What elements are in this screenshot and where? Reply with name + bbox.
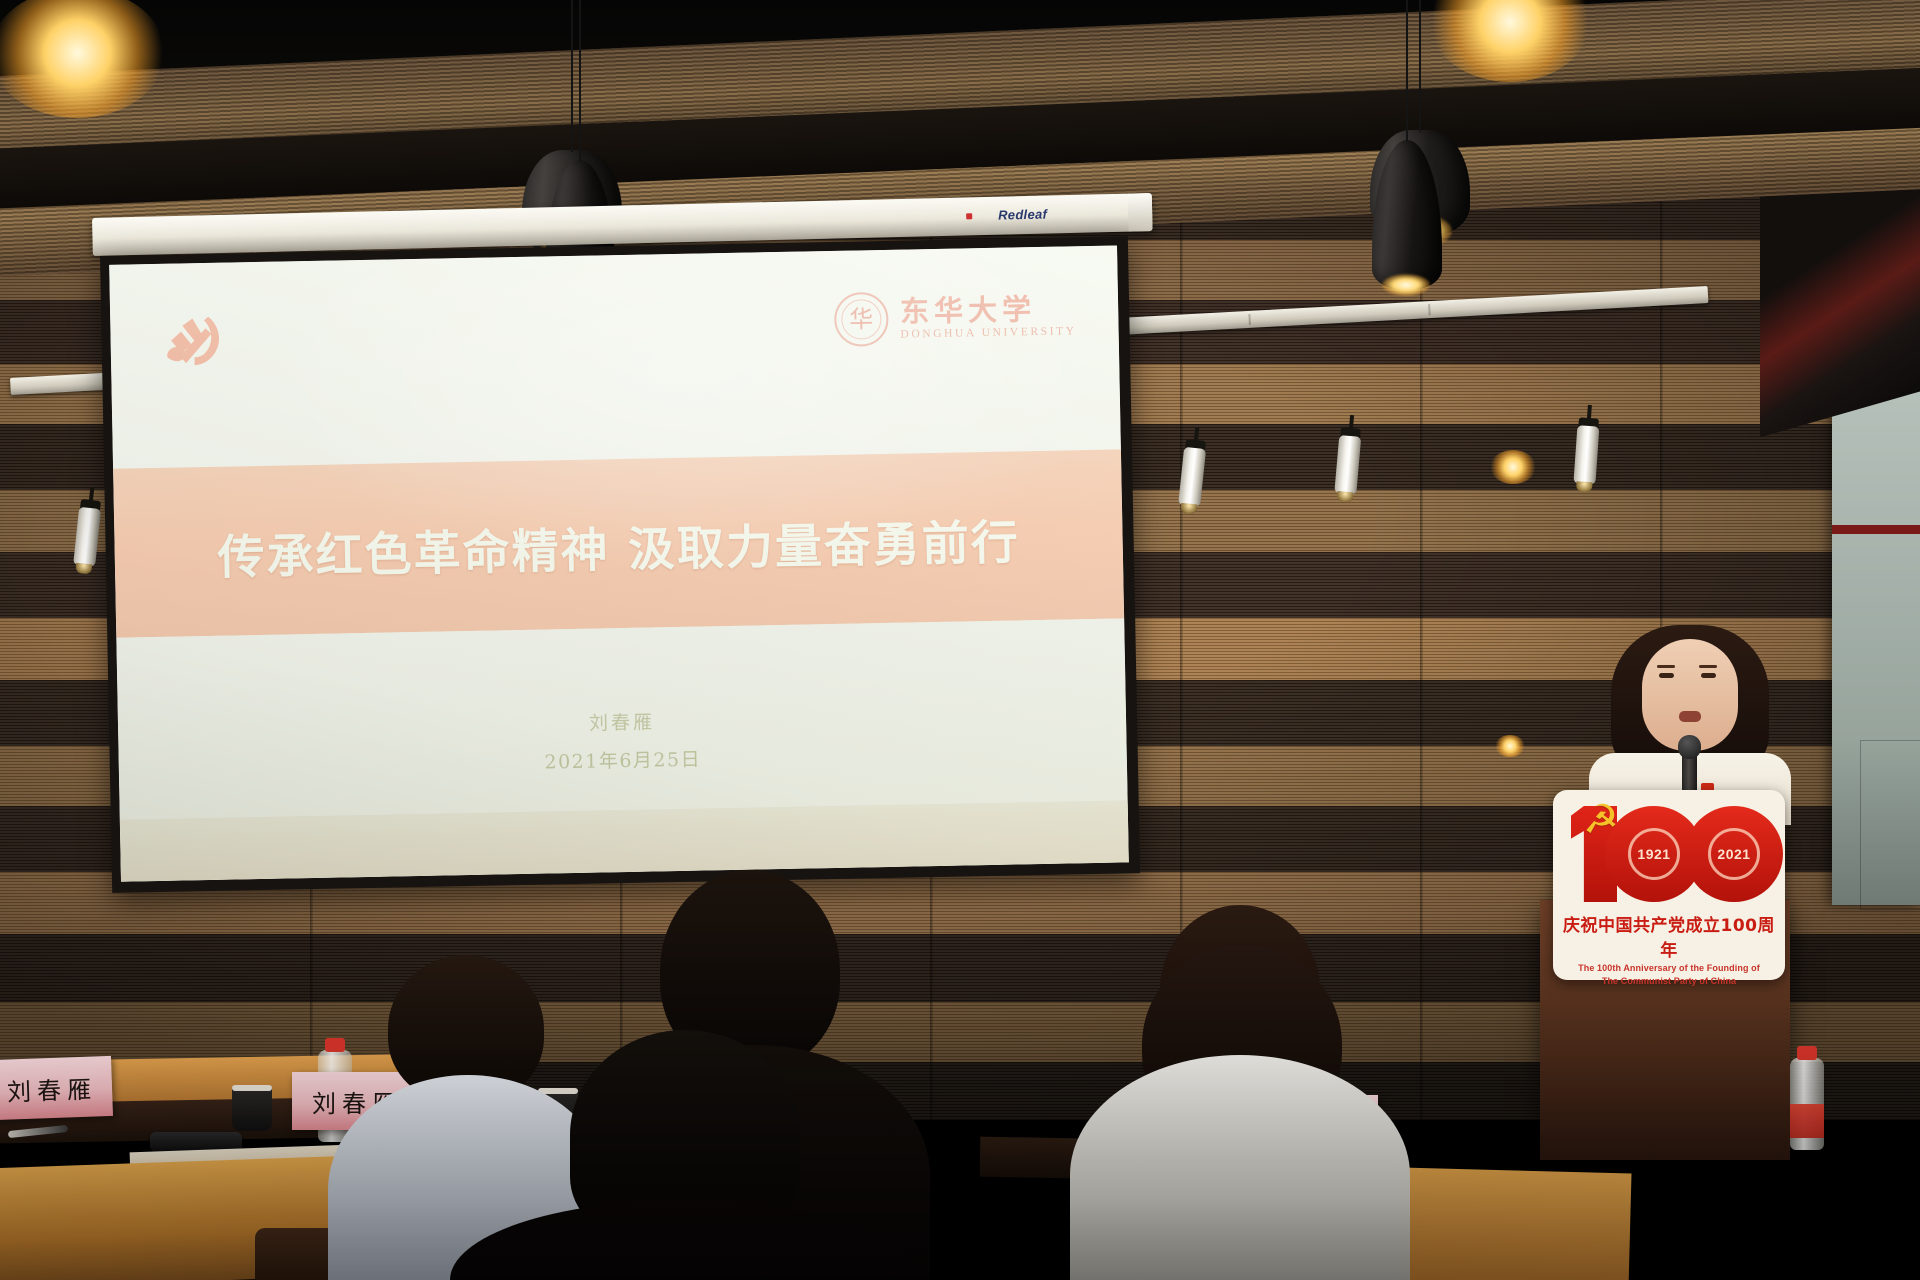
audience-member <box>510 1030 850 1280</box>
cpc-100th-anniversary-emblem: ☭ 1921 2021 庆祝中国共产党成立100周年 The 100th Ann… <box>1553 790 1785 980</box>
emblem-slogan-en-2: The Communist Party of China <box>1563 976 1775 987</box>
projector-brand-label: Redleaf <box>998 206 1047 222</box>
university-logo: 华 东华大学 DONGHUA UNIVERSITY <box>834 288 1077 347</box>
emblem-zero-2021: 2021 <box>1685 806 1783 902</box>
slide-surface: 华 东华大学 DONGHUA UNIVERSITY 传承红色革命精神 汲取力量奋… <box>109 245 1129 881</box>
emblem-year-start: 1921 <box>1628 828 1680 880</box>
speaker-presenter <box>1585 625 1795 815</box>
university-name-cn: 东华大学 <box>900 293 1077 327</box>
name-card-text: 刘春雁 <box>6 1069 97 1107</box>
university-seal-icon: 华 <box>834 292 889 347</box>
hammer-and-sickle-icon <box>158 310 233 383</box>
projection-screen: 华 东华大学 DONGHUA UNIVERSITY 传承红色革命精神 汲取力量奋… <box>100 236 1140 893</box>
emblem-slogan-cn: 庆祝中国共产党成立100周年 <box>1563 911 1775 961</box>
audience-member <box>1080 905 1390 1280</box>
microphone-head-icon <box>1678 735 1701 759</box>
pendant-lamp-cone <box>1372 140 1472 290</box>
lecture-hall-photo: Redleaf 华 <box>0 0 1920 1280</box>
brand-dot-icon <box>966 213 972 219</box>
seal-glyph: 华 <box>849 307 873 331</box>
university-name-en: DONGHUA UNIVERSITY <box>900 325 1076 340</box>
hammer-and-sickle-icon: ☭ <box>1583 800 1619 840</box>
emblem-slogan-en-1: The 100th Anniversary of the Founding of <box>1563 963 1775 974</box>
coffee-mug <box>232 1085 272 1131</box>
water-bottle <box>1790 1058 1824 1150</box>
name-card: 刘春雁 <box>0 1056 113 1120</box>
side-door-panel <box>1832 345 1920 905</box>
emblem-year-end: 2021 <box>1708 828 1760 880</box>
ceiling-bulb-small <box>1495 735 1525 757</box>
ceiling-bulb-far-right <box>1490 450 1536 484</box>
